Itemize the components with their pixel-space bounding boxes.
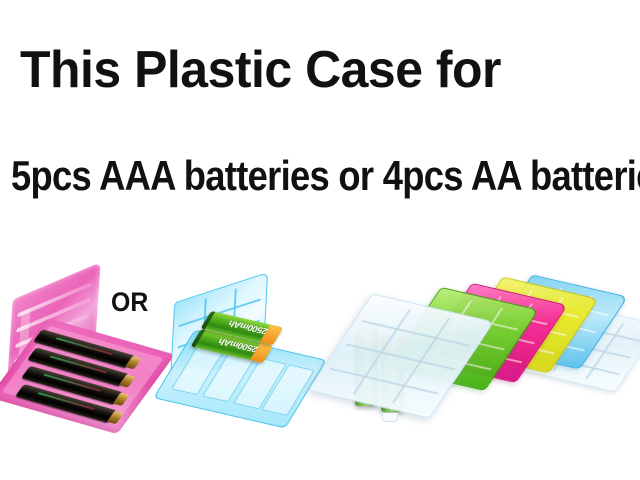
case-latch-tab bbox=[382, 413, 398, 422]
case-divider bbox=[330, 367, 439, 394]
product-banner: This Plastic Case for 5pcs AAA batteries… bbox=[0, 0, 640, 480]
page-title: This Plastic Case for bbox=[20, 44, 501, 96]
page-subtitle: 5pcs AAA batteries or 4pcs AA batteries bbox=[11, 155, 640, 197]
battery-stripe bbox=[55, 337, 112, 355]
battery-case-color-fan bbox=[330, 268, 640, 463]
case-divider bbox=[346, 344, 455, 371]
blue-battery-case-open: 2500mAh 2500mAh bbox=[168, 288, 328, 420]
case-divider bbox=[362, 320, 471, 347]
or-separator-label: OR bbox=[111, 289, 148, 316]
